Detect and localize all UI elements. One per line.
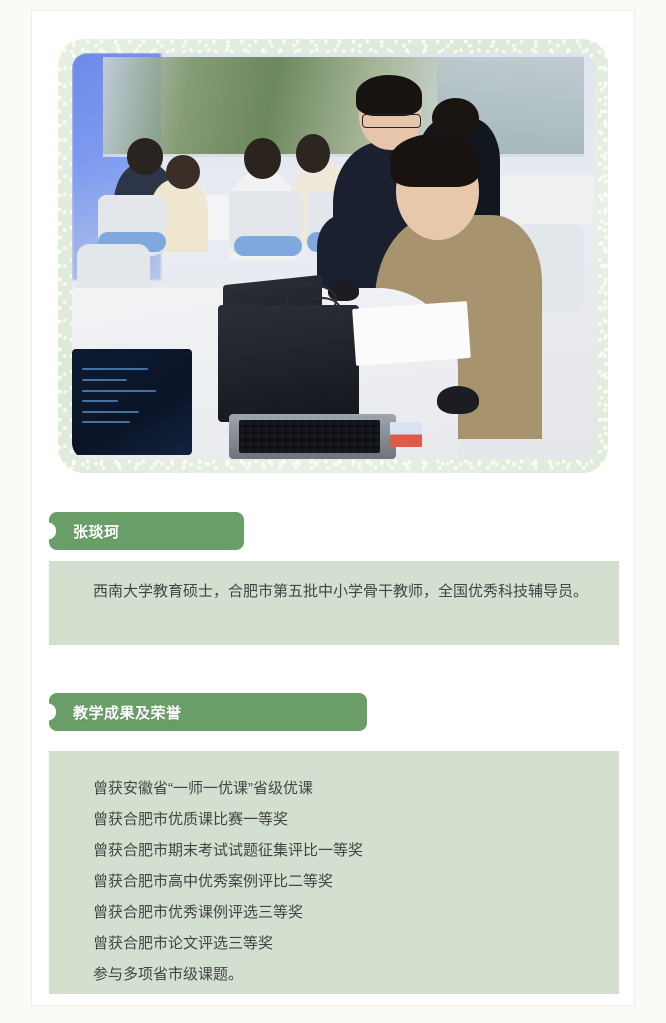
photo-laptop-stickers (390, 422, 421, 446)
teacher-name-tab[interactable]: 张琰珂 (49, 512, 244, 550)
photo-cable-loop-2 (302, 297, 343, 325)
photo-student-back-1-head (127, 138, 164, 175)
list-item: 曾获合肥市优质课比赛一等奖 (93, 804, 601, 835)
photo-person-behind-head (432, 98, 479, 139)
achievements-panel: 曾获安徽省“一师一优课”省级优课 曾获合肥市优质课比赛一等奖 曾获合肥市期末考试… (49, 751, 619, 994)
list-item: 参与多项省市级课题。 (93, 959, 601, 990)
photo-teacher-glasses (362, 114, 421, 128)
photo-student-back-3-head (244, 138, 281, 179)
photo-laptop-keyboard (239, 420, 380, 452)
teacher-name-tab-label: 张琰珂 (73, 521, 120, 542)
teacher-bio-panel: 西南大学教育硕士，合肥市第五批中小学骨干教师，全国优秀科技辅导员。 (49, 561, 619, 645)
list-item: 曾获安徽省“一师一优课”省级优课 (93, 773, 601, 804)
list-item: 曾获合肥市高中优秀案例评比二等奖 (93, 866, 601, 897)
photo-side-laptop-code (72, 349, 192, 455)
photo-chair-seat-2 (234, 236, 302, 256)
achievements-tab-label: 教学成果及荣誉 (73, 702, 182, 723)
list-item: 曾获合肥市优秀课例评选三等奖 (93, 897, 601, 928)
achievements-tab[interactable]: 教学成果及荣誉 (49, 693, 367, 731)
list-item: 曾获合肥市期末考试试题征集评比一等奖 (93, 835, 601, 866)
photo-student-back-2-head (166, 155, 200, 190)
photo-paper-sheet (352, 301, 471, 366)
list-item: 曾获合肥市论文评选三等奖 (93, 928, 601, 959)
photo-student-back-4-head (296, 134, 330, 173)
photo-frame (58, 39, 608, 473)
article-card: 张琰珂 西南大学教育硕士，合肥市第五批中小学骨干教师，全国优秀科技辅导员。 教学… (31, 10, 635, 1006)
teacher-bio-text: 西南大学教育硕士，合肥市第五批中小学骨干教师，全国优秀科技辅导员。 (63, 577, 601, 607)
classroom-photo (72, 53, 594, 459)
photo-laptop-main-screen (218, 305, 359, 423)
photo-mouse-student (437, 386, 479, 414)
photo-teacher-hair (356, 75, 421, 116)
photo-student-front-hair (390, 134, 479, 187)
